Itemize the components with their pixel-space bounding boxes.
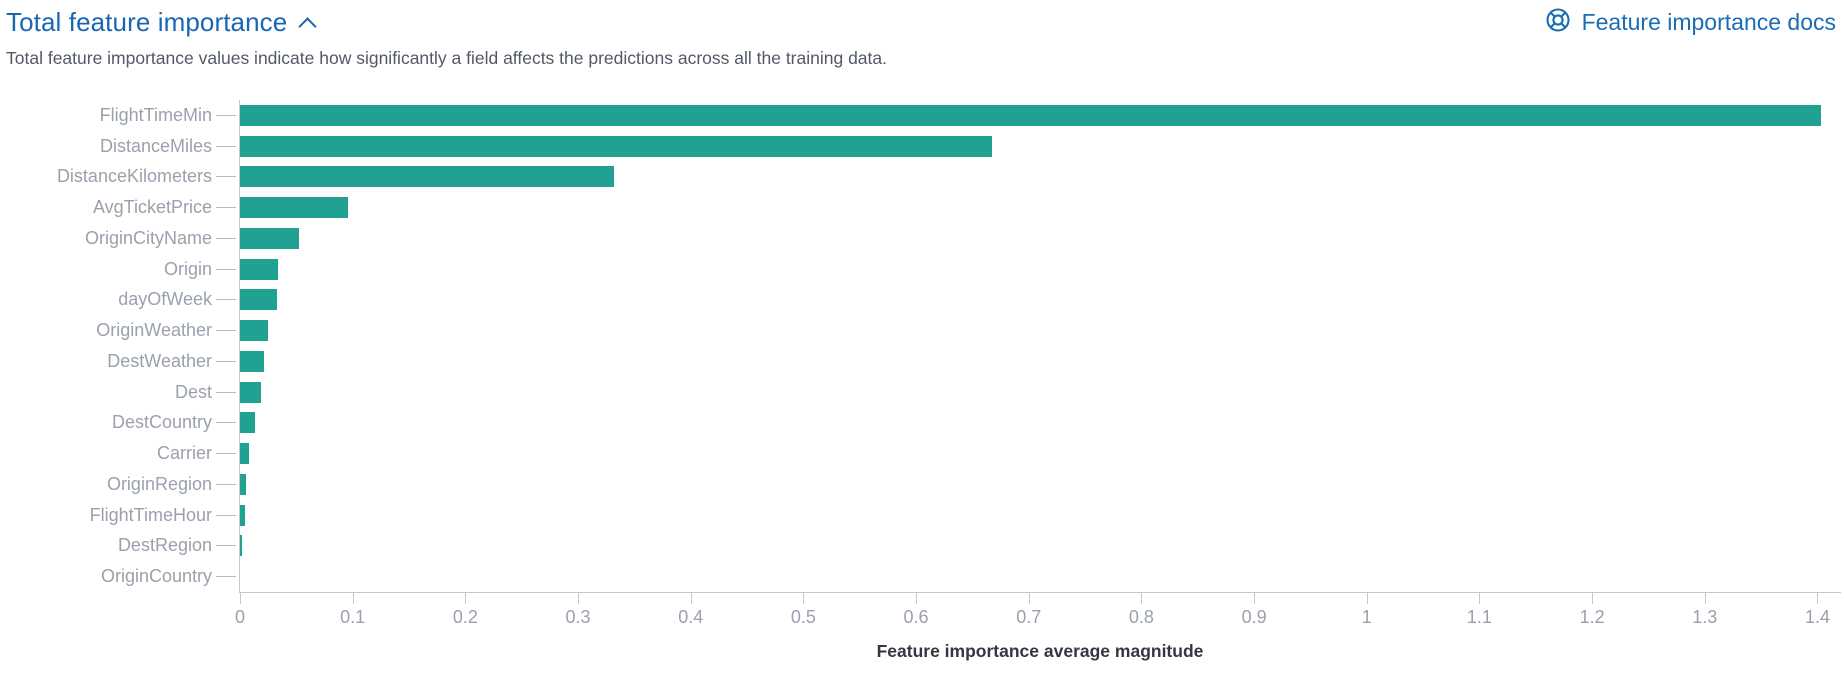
x-axis-tick-label: 0.2 — [453, 606, 478, 628]
y-axis-tick — [216, 146, 236, 147]
bar-row[interactable] — [240, 254, 1840, 285]
page-title: Total feature importance — [6, 7, 287, 37]
x-axis-tick — [578, 593, 579, 604]
y-axis-label: Dest — [175, 382, 212, 403]
bar-series — [240, 100, 1840, 592]
x-axis-title: Feature importance average magnitude — [240, 640, 1840, 662]
bar-row[interactable] — [240, 162, 1840, 193]
y-axis-tick — [216, 515, 236, 516]
bar-row[interactable] — [240, 377, 1840, 408]
bar-row[interactable] — [240, 223, 1840, 254]
x-axis-tick — [803, 593, 804, 604]
x-axis-tick — [916, 593, 917, 604]
y-axis-label-cell: dayOfWeek — [0, 285, 212, 316]
bar-row[interactable] — [240, 346, 1840, 377]
x-axis-tick-label: 0.4 — [678, 606, 703, 628]
x-axis-tick — [1029, 593, 1030, 604]
bar-row[interactable] — [240, 531, 1840, 562]
y-axis-tick-cell — [216, 192, 238, 223]
total-feature-importance-accordion-toggle[interactable]: Total feature importance — [6, 7, 317, 37]
y-axis-tick — [216, 299, 236, 300]
bar[interactable] — [240, 166, 614, 187]
x-axis-tick-label: 0.3 — [566, 606, 591, 628]
feature-importance-panel: Total feature importance Feature importa… — [0, 0, 1844, 680]
x-axis-tick-label: 1.3 — [1692, 606, 1717, 628]
y-axis-tick — [216, 453, 236, 454]
y-axis-label-cell: OriginWeather — [0, 315, 212, 346]
y-axis-label: OriginRegion — [107, 474, 212, 495]
x-axis-tick-labels: 00.10.20.30.40.50.60.70.80.911.11.21.31.… — [240, 606, 1840, 634]
y-axis-label: DistanceKilometers — [57, 166, 212, 187]
bar-row[interactable] — [240, 408, 1840, 439]
y-axis-tick-cell — [216, 500, 238, 531]
y-axis-label-cell: OriginCountry — [0, 561, 212, 592]
x-axis-tick-label: 1.2 — [1580, 606, 1605, 628]
panel-description: Total feature importance values indicate… — [6, 46, 887, 70]
y-axis-label-cell: Carrier — [0, 438, 212, 469]
x-axis-tick-label: 1.1 — [1467, 606, 1492, 628]
y-axis-tick — [216, 392, 236, 393]
y-axis-tick-cell — [216, 254, 238, 285]
y-axis-label: DistanceMiles — [100, 136, 212, 157]
bar-row[interactable] — [240, 285, 1840, 316]
y-axis-tick-cell — [216, 561, 238, 592]
bar-row[interactable] — [240, 131, 1840, 162]
y-axis-tick — [216, 484, 236, 485]
y-axis-label-cell: DestCountry — [0, 408, 212, 439]
bar-row[interactable] — [240, 100, 1840, 131]
x-axis-tick — [1254, 593, 1255, 604]
x-axis-tick — [1367, 593, 1368, 604]
bar[interactable] — [240, 351, 264, 372]
y-axis-label-cell: DestRegion — [0, 531, 212, 562]
y-axis-tick — [216, 422, 236, 423]
y-axis-label-cell: AvgTicketPrice — [0, 192, 212, 223]
y-axis-tick-cell — [216, 469, 238, 500]
y-axis-label-cell: DistanceMiles — [0, 131, 212, 162]
y-axis-tick-cell — [216, 531, 238, 562]
y-axis-tick — [216, 330, 236, 331]
y-axis-label: FlightTimeHour — [90, 505, 212, 526]
x-axis-tick-label: 0.8 — [1129, 606, 1154, 628]
x-axis-tick-label: 0 — [235, 606, 245, 628]
y-axis-label-cell: FlightTimeMin — [0, 100, 212, 131]
x-axis-tick-label: 1.4 — [1805, 606, 1830, 628]
y-axis-tick-cell — [216, 408, 238, 439]
bar-row[interactable] — [240, 561, 1840, 592]
y-axis-tick-cell — [216, 100, 238, 131]
bar-row[interactable] — [240, 315, 1840, 346]
y-axis-label: Carrier — [157, 443, 212, 464]
y-axis-label: dayOfWeek — [118, 289, 212, 310]
y-axis-label: OriginWeather — [96, 320, 212, 341]
y-axis-label-cell: OriginRegion — [0, 469, 212, 500]
bar[interactable] — [240, 259, 278, 280]
bar[interactable] — [240, 382, 261, 403]
y-axis-tick — [216, 576, 236, 577]
bar[interactable] — [240, 136, 992, 157]
bar-row[interactable] — [240, 192, 1840, 223]
y-axis-tick-cell — [216, 285, 238, 316]
bar-row[interactable] — [240, 438, 1840, 469]
y-axis-ticks — [216, 100, 238, 592]
y-axis-tick — [216, 238, 236, 239]
feature-importance-docs-link[interactable]: Feature importance docs — [1545, 7, 1840, 38]
y-axis-tick-cell — [216, 162, 238, 193]
x-axis-tick — [1817, 593, 1818, 604]
y-axis-label: DestRegion — [118, 535, 212, 556]
y-axis-tick-cell — [216, 131, 238, 162]
y-axis-label: OriginCityName — [85, 228, 212, 249]
x-axis-tick-label: 1 — [1362, 606, 1372, 628]
bar[interactable] — [240, 443, 249, 464]
bar[interactable] — [240, 412, 255, 433]
y-axis-label: FlightTimeMin — [100, 105, 212, 126]
y-axis-tick — [216, 361, 236, 362]
y-axis-tick — [216, 207, 236, 208]
bar[interactable] — [240, 197, 348, 218]
y-axis-tick-cell — [216, 223, 238, 254]
panel-header: Total feature importance Feature importa… — [0, 0, 1844, 44]
x-axis-tick — [1141, 593, 1142, 604]
x-axis-tick — [1592, 593, 1593, 604]
x-axis-ticks — [240, 593, 1840, 605]
y-axis-label-cell: OriginCityName — [0, 223, 212, 254]
bar-row[interactable] — [240, 469, 1840, 500]
y-axis-label: DestWeather — [107, 351, 212, 372]
x-axis-tick-label: 0.1 — [340, 606, 365, 628]
x-axis-tick — [353, 593, 354, 604]
y-axis-label-cell: Dest — [0, 377, 212, 408]
bar[interactable] — [240, 105, 1821, 126]
y-axis-tick — [216, 545, 236, 546]
x-axis-tick-label: 0.5 — [791, 606, 816, 628]
x-axis-tick — [691, 593, 692, 604]
bar[interactable] — [240, 228, 299, 249]
bar[interactable] — [240, 505, 245, 526]
y-axis-tick-cell — [216, 377, 238, 408]
bar[interactable] — [240, 289, 277, 310]
y-axis-label: Origin — [164, 259, 212, 280]
y-axis-tick-cell — [216, 346, 238, 377]
bar[interactable] — [240, 535, 242, 556]
bar[interactable] — [240, 474, 246, 495]
feature-importance-chart: FlightTimeMinDistanceMilesDistanceKilome… — [0, 92, 1844, 680]
y-axis-label-cell: Origin — [0, 254, 212, 285]
y-axis-tick — [216, 176, 236, 177]
y-axis-label: DestCountry — [112, 412, 212, 433]
x-axis-tick-label: 0.6 — [904, 606, 929, 628]
chevron-up-icon[interactable] — [300, 15, 317, 32]
y-axis-labels: FlightTimeMinDistanceMilesDistanceKilome… — [0, 100, 212, 592]
x-axis-tick — [1479, 593, 1480, 604]
y-axis-label-cell: DistanceKilometers — [0, 162, 212, 193]
y-axis-label: AvgTicketPrice — [93, 197, 212, 218]
x-axis-tick — [1705, 593, 1706, 604]
bar-row[interactable] — [240, 500, 1840, 531]
lifebuoy-icon — [1545, 7, 1571, 38]
x-axis-tick — [465, 593, 466, 604]
x-axis-tick — [240, 593, 241, 604]
bar[interactable] — [240, 320, 268, 341]
x-axis-tick-label: 0.7 — [1016, 606, 1041, 628]
docs-link-label: Feature importance docs — [1582, 9, 1836, 36]
x-axis-tick-label: 0.9 — [1242, 606, 1267, 628]
y-axis-label-cell: FlightTimeHour — [0, 500, 212, 531]
y-axis-tick-cell — [216, 438, 238, 469]
y-axis-tick-cell — [216, 315, 238, 346]
y-axis-tick — [216, 115, 236, 116]
y-axis-label: OriginCountry — [101, 566, 212, 587]
plot-area — [240, 100, 1840, 592]
y-axis-label-cell: DestWeather — [0, 346, 212, 377]
y-axis-tick — [216, 269, 236, 270]
